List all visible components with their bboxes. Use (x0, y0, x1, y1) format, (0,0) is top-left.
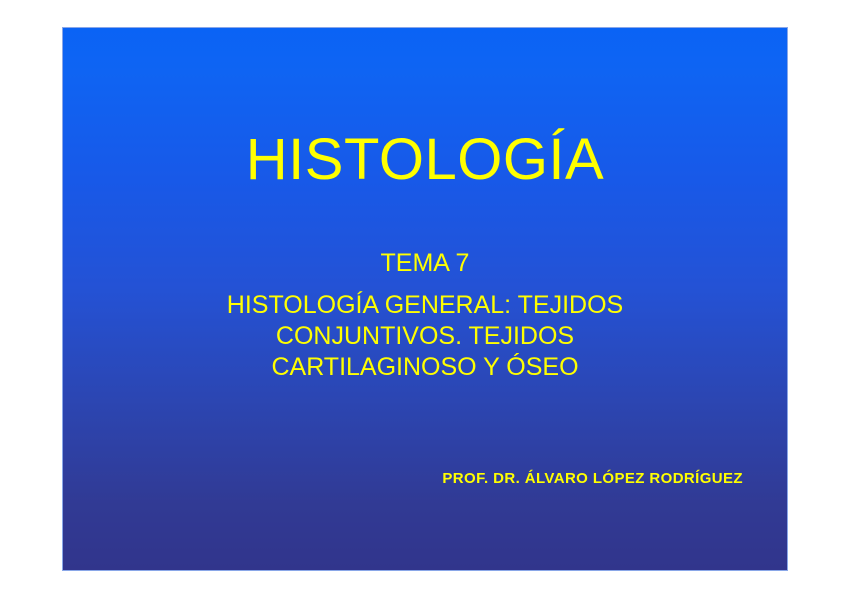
slide-content: HISTOLOGÍA TEMA 7 HISTOLOGÍA GENERAL: TE… (63, 28, 787, 570)
slide-title: HISTOLOGÍA (63, 130, 787, 191)
subtitle-line-3: CONJUNTIVOS. TEJIDOS (63, 321, 787, 352)
author-credit: PROF. DR. ÁLVARO LÓPEZ RODRÍGUEZ (442, 470, 743, 487)
subtitle-line-4: CARTILAGINOSO Y ÓSEO (63, 352, 787, 383)
subtitle-line-1: TEMA 7 (63, 248, 787, 279)
presentation-page: HISTOLOGÍA TEMA 7 HISTOLOGÍA GENERAL: TE… (0, 0, 848, 599)
title-slide: HISTOLOGÍA TEMA 7 HISTOLOGÍA GENERAL: TE… (63, 28, 787, 570)
slide-subtitle-block: TEMA 7 HISTOLOGÍA GENERAL: TEJIDOS CONJU… (63, 248, 787, 383)
subtitle-line-2: HISTOLOGÍA GENERAL: TEJIDOS (63, 290, 787, 321)
